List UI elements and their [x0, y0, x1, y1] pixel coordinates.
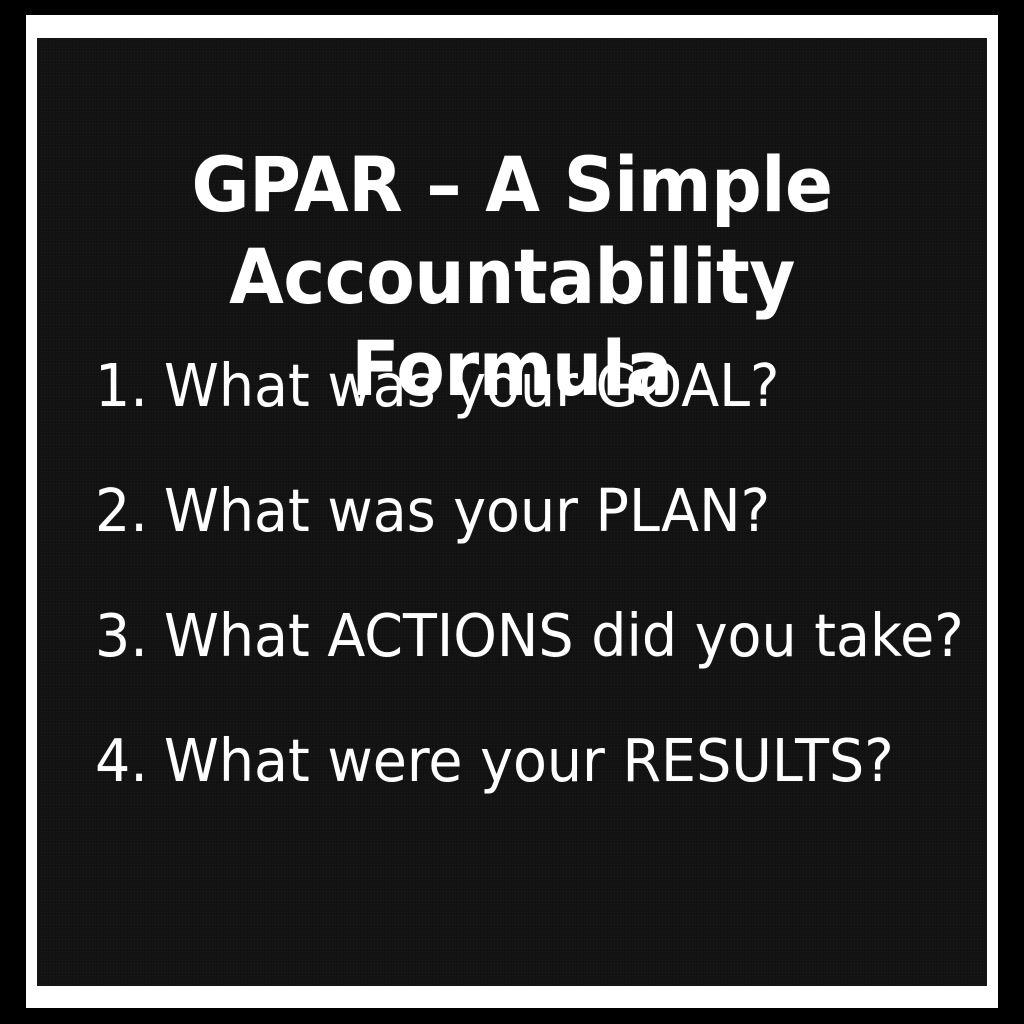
list-item-marker: 1. — [95, 356, 160, 415]
title-line-1: GPAR – A Simple — [192, 140, 833, 229]
list-item-marker: 3. — [95, 606, 160, 665]
list-item-label: What was your PLAN? — [164, 481, 770, 540]
list-item-marker: 4. — [95, 731, 160, 790]
list-item: 4. What were your RESULTS? — [95, 731, 977, 856]
question-list: 1. What was your GOAL? 2. What was your … — [95, 356, 977, 856]
list-item-label: What was your GOAL? — [164, 356, 779, 415]
slide-card: GPAR – A Simple Accountability Formula 1… — [37, 38, 987, 986]
list-item-marker: 2. — [95, 481, 160, 540]
list-item-label: What were your RESULTS? — [164, 731, 894, 790]
list-item: 2. What was your PLAN? — [95, 481, 977, 606]
list-item: 3. What ACTIONS did you take? — [95, 606, 977, 731]
slide-outer-frame: GPAR – A Simple Accountability Formula 1… — [0, 0, 1024, 1024]
list-item: 1. What was your GOAL? — [95, 356, 977, 481]
list-item-label: What ACTIONS did you take? — [164, 606, 964, 665]
slide-white-border: GPAR – A Simple Accountability Formula 1… — [26, 15, 998, 1008]
